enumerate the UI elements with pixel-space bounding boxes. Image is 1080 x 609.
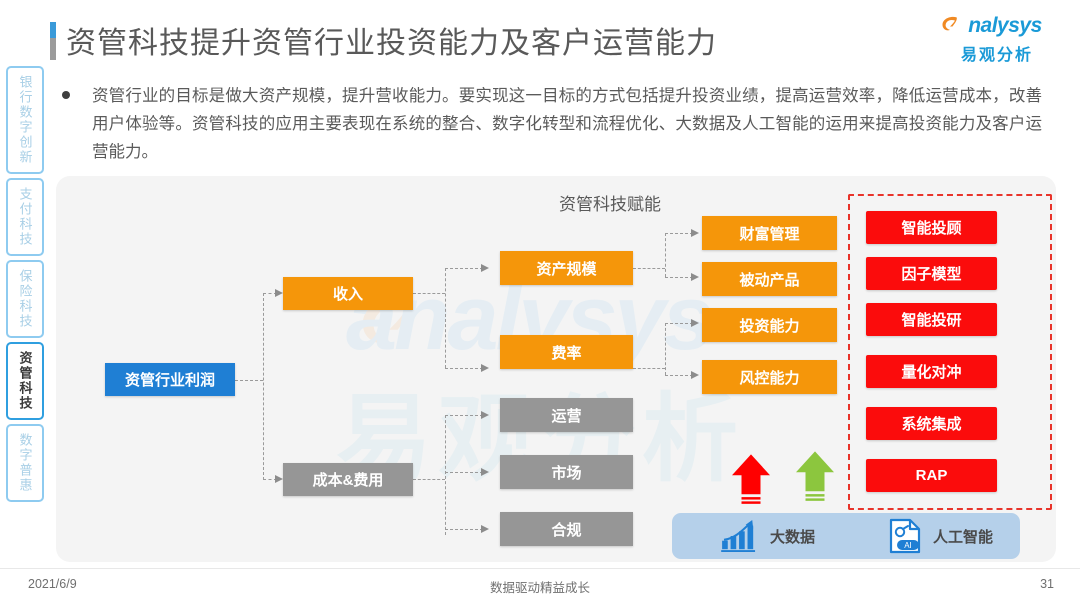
arrow-to-passive <box>691 273 699 281</box>
sidebar-item-payment[interactable]: 支付科技 <box>6 178 44 256</box>
node-compliance[interactable]: 合规 <box>500 512 633 546</box>
connector-to-compliance <box>445 529 483 530</box>
connector-to-fee-rate <box>445 368 483 369</box>
sidebar-item-label: 银行数字创新 <box>18 75 33 165</box>
sidebar-item-label: 资管科技 <box>18 351 33 411</box>
connector-revenue-out <box>413 293 445 294</box>
enabler-label: 大数据 <box>770 526 815 547</box>
green-up-arrow-icon <box>796 451 834 503</box>
node-label: 智能投顾 <box>901 217 961 238</box>
connector-to-wealth <box>665 233 693 234</box>
svg-text:AI: AI <box>904 541 912 550</box>
node-quant-hedging[interactable]: 量化对冲 <box>866 355 997 388</box>
node-label: 因子模型 <box>901 263 961 284</box>
node-passive-products[interactable]: 被动产品 <box>702 262 837 296</box>
arrow-to-invest-ability <box>691 319 699 327</box>
node-revenue[interactable]: 收入 <box>283 277 413 310</box>
arrow-to-cost <box>275 475 283 483</box>
node-label: 风控能力 <box>739 367 799 388</box>
arrow-to-risk-ability <box>691 371 699 379</box>
connector-to-passive <box>665 277 693 278</box>
sidebar-item-asset-management[interactable]: 资管科技 <box>6 342 44 420</box>
sidebar-item-label: 保险科技 <box>18 269 33 329</box>
arrow-to-wealth <box>691 229 699 237</box>
node-label: 被动产品 <box>739 269 799 290</box>
diagram-title: 资管科技赋能 <box>510 190 710 215</box>
red-up-arrow-icon <box>732 454 770 506</box>
sidebar-item-insurance[interactable]: 保险科技 <box>6 260 44 338</box>
connector-root-out <box>235 380 263 381</box>
node-rap[interactable]: RAP <box>866 459 997 492</box>
node-label: 投资能力 <box>739 315 799 336</box>
connector-root-spine <box>263 293 264 480</box>
sidebar-item-label: 数字普惠 <box>18 433 33 493</box>
arrow-to-operations <box>481 411 489 419</box>
enabler-big-data[interactable]: 大数据 <box>720 520 815 552</box>
node-asset-management-profit[interactable]: 资管行业利润 <box>105 363 235 396</box>
node-label: 成本&费用 <box>313 469 384 490</box>
sidebar-item-label: 支付科技 <box>18 187 33 247</box>
slide: 资管科技提升资管行业投资能力及客户运营能力 nalysys 易观分析 资管行业的… <box>0 0 1080 608</box>
logo-wordmark: nalysys <box>932 14 1062 40</box>
node-label: 财富管理 <box>739 223 799 244</box>
sidebar-item-inclusive-finance[interactable]: 数字普惠 <box>6 424 44 502</box>
node-investment-ability[interactable]: 投资能力 <box>702 308 837 342</box>
node-cost-expense[interactable]: 成本&费用 <box>283 463 413 496</box>
arrow-to-compliance <box>481 525 489 533</box>
footer: 2021/6/9 数据驱动精益成长 31 <box>0 568 1080 609</box>
page-title: 资管科技提升资管行业投资能力及客户运营能力 <box>66 18 717 62</box>
bar-chart-growth-icon <box>720 520 760 552</box>
node-label: 合规 <box>551 519 581 540</box>
title-accent-bar <box>50 22 56 60</box>
connector-cost-spine <box>445 415 446 535</box>
sidebar-tabs: 银行数字创新 支付科技 保险科技 资管科技 数字普惠 <box>6 66 44 506</box>
sidebar-item-bank[interactable]: 银行数字创新 <box>6 66 44 174</box>
ai-document-icon: AI <box>887 518 923 554</box>
node-label: 智能投研 <box>901 309 961 330</box>
arrow-to-asset-scale <box>481 264 489 272</box>
body-paragraph: 资管行业的目标是做大资产规模，提升营收能力。要实现这一目标的方式包括提升投资业绩… <box>92 82 1042 166</box>
connector-to-risk-ability <box>665 375 693 376</box>
node-asset-scale[interactable]: 资产规模 <box>500 251 633 285</box>
connector-fee-out <box>633 368 665 369</box>
connector-asset-out <box>633 268 665 269</box>
arrow-to-revenue <box>275 289 283 297</box>
connector-cost-out <box>413 479 445 480</box>
node-label: 量化对冲 <box>901 361 961 382</box>
connector-to-asset-scale <box>445 268 483 269</box>
bullet-dot-icon <box>62 91 70 99</box>
connector-revenue-spine <box>445 268 446 368</box>
node-robo-advisor[interactable]: 智能投顾 <box>866 211 997 244</box>
node-label: RAP <box>916 467 948 484</box>
node-label: 费率 <box>551 342 581 363</box>
enabler-label: 人工智能 <box>933 526 993 547</box>
connector-fee-spine <box>665 323 666 375</box>
connector-to-operations <box>445 415 483 416</box>
node-wealth-management[interactable]: 财富管理 <box>702 216 837 250</box>
node-label: 收入 <box>333 283 363 304</box>
logo-chinese: 易观分析 <box>932 41 1062 65</box>
connector-to-market <box>445 472 483 473</box>
connector-to-invest-ability <box>665 323 693 324</box>
node-label: 资管行业利润 <box>125 369 215 390</box>
analysys-a-icon <box>940 14 960 34</box>
diagram-card: 资管科技赋能 analysys 易观分析 <box>56 176 1056 562</box>
node-label: 运营 <box>551 405 581 426</box>
arrow-to-fee-rate <box>481 364 489 372</box>
node-label: 系统集成 <box>901 413 961 434</box>
node-label: 市场 <box>551 462 581 483</box>
node-label: 资产规模 <box>536 258 596 279</box>
node-factor-model[interactable]: 因子模型 <box>866 257 997 290</box>
connector-asset-spine <box>665 233 666 277</box>
node-operations[interactable]: 运营 <box>500 398 633 432</box>
footer-page-number: 31 <box>1040 577 1054 591</box>
tech-capability-panel: 智能投顾 因子模型 智能投研 量化对冲 系统集成 RAP <box>848 194 1052 510</box>
node-market[interactable]: 市场 <box>500 455 633 489</box>
node-smart-research[interactable]: 智能投研 <box>866 303 997 336</box>
enabler-ai[interactable]: AI 人工智能 <box>887 518 993 554</box>
enabler-bar: 大数据 AI 人工智能 <box>672 513 1020 559</box>
footer-slogan: 数据驱动精益成长 <box>0 577 1080 596</box>
node-fee-rate[interactable]: 费率 <box>500 335 633 369</box>
analysys-logo: nalysys 易观分析 <box>932 14 1062 65</box>
node-system-integration[interactable]: 系统集成 <box>866 407 997 440</box>
node-risk-control-ability[interactable]: 风控能力 <box>702 360 837 394</box>
arrow-to-market <box>481 468 489 476</box>
bullet-paragraph: 资管行业的目标是做大资产规模，提升营收能力。要实现这一目标的方式包括提升投资业绩… <box>62 82 1052 166</box>
